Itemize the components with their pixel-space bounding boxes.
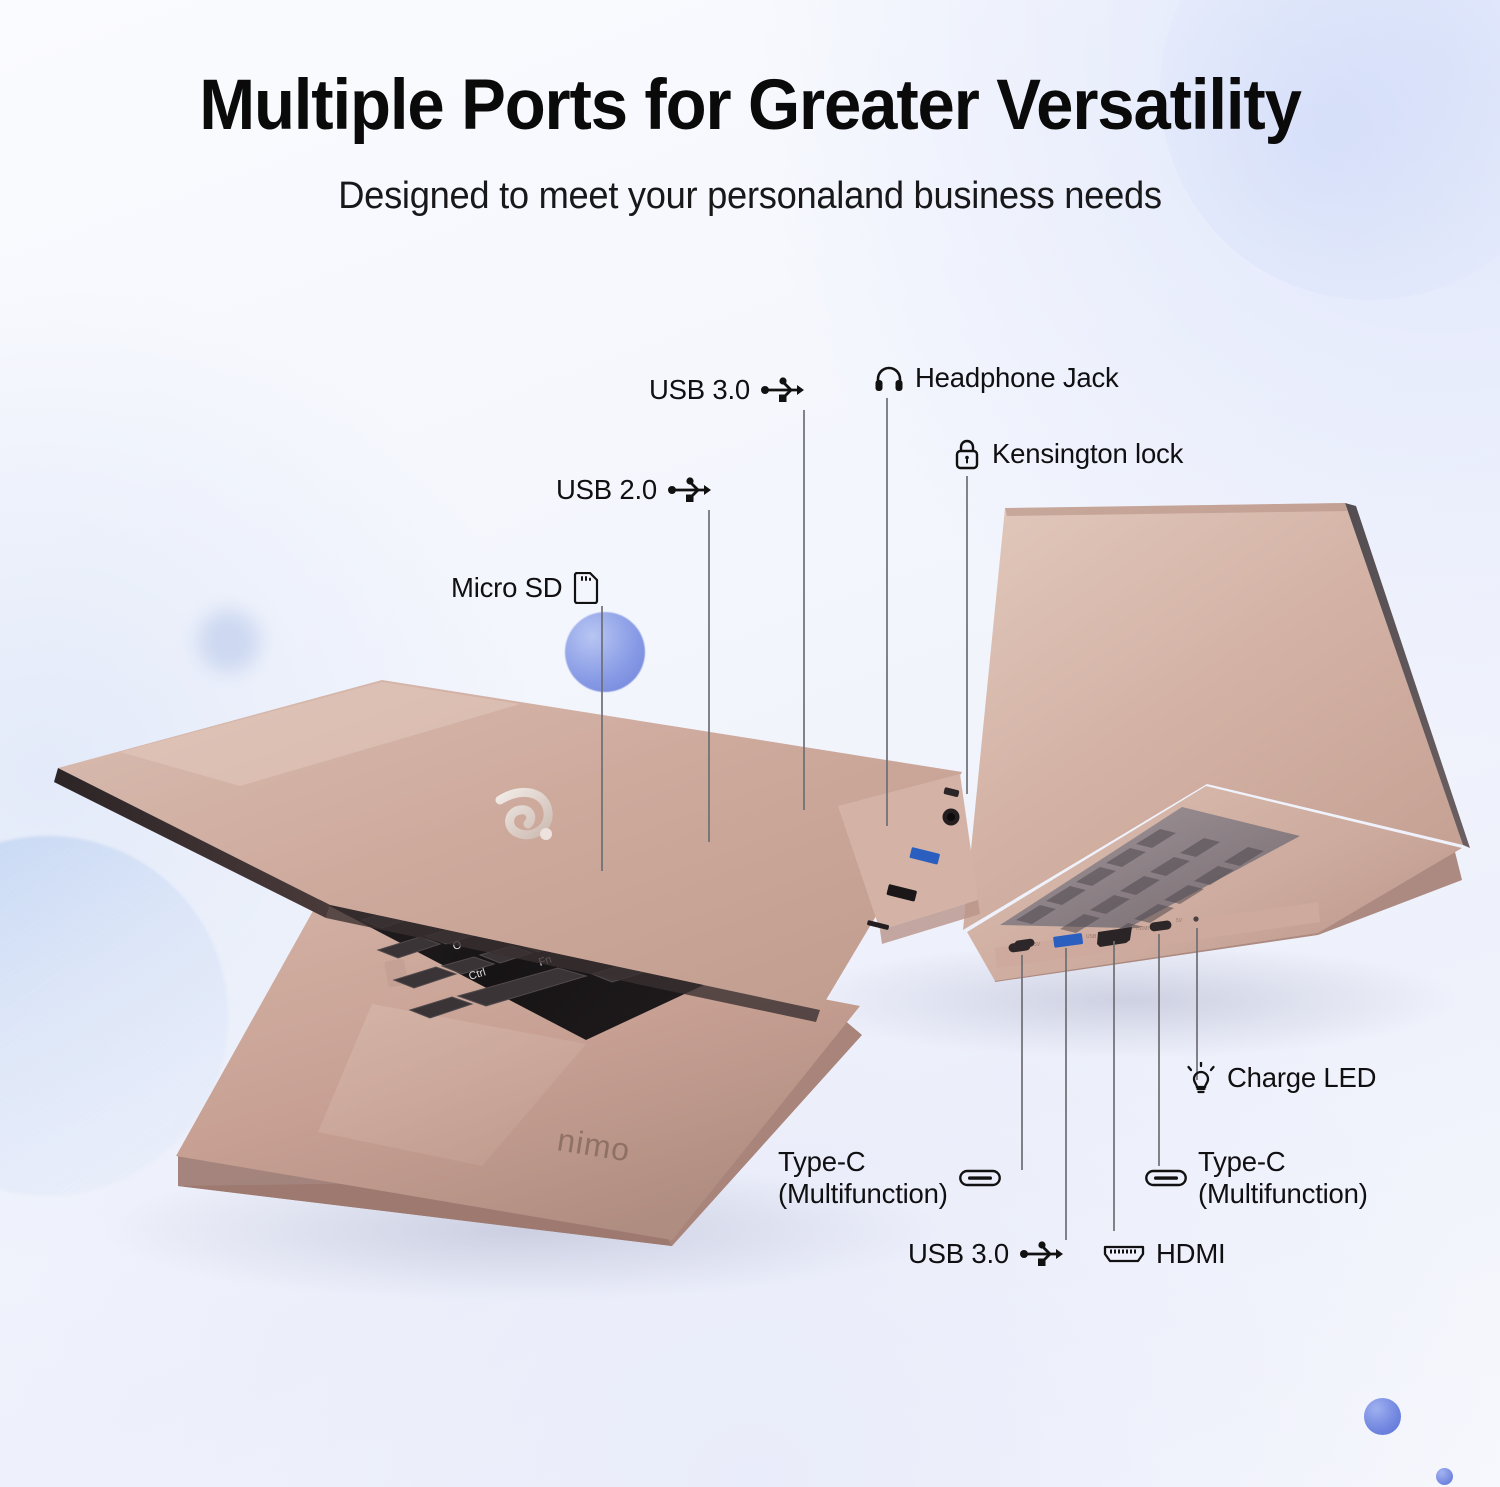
page-subtitle: Designed to meet your personaland busine… bbox=[34, 175, 1467, 218]
callout-label-usb-20: USB 2.0 bbox=[556, 474, 657, 506]
leader-line-type-c-left bbox=[1021, 955, 1023, 1170]
usb-icon bbox=[761, 376, 805, 404]
callout-label-kensington-lock: Kensington lock bbox=[992, 438, 1183, 470]
bulb-icon bbox=[1186, 1062, 1216, 1094]
leader-line-kensington-lock bbox=[966, 476, 968, 794]
callout-usb-30-bottom[interactable]: USB 3.0 bbox=[908, 1238, 1064, 1270]
svg-text:USB: USB bbox=[1086, 934, 1097, 940]
callout-label-hdmi: HDMI bbox=[1156, 1238, 1225, 1270]
leader-line-usb-30-top bbox=[803, 410, 805, 810]
callout-type-c-left[interactable]: Type-C (Multifunction) bbox=[778, 1146, 1001, 1210]
usb-icon bbox=[668, 476, 712, 504]
callout-headphone-jack[interactable]: Headphone Jack bbox=[874, 362, 1119, 394]
leader-line-hdmi bbox=[1113, 941, 1115, 1231]
leader-line-charge-led bbox=[1196, 928, 1198, 1080]
callout-usb-30-top[interactable]: USB 3.0 bbox=[649, 374, 805, 406]
typec-icon bbox=[959, 1167, 1001, 1189]
callout-label-headphone-jack: Headphone Jack bbox=[915, 362, 1119, 394]
page-title: Multiple Ports for Greater Versatility bbox=[41, 68, 1459, 145]
callout-usb-20[interactable]: USB 2.0 bbox=[556, 474, 712, 506]
leader-line-type-c-right bbox=[1158, 934, 1160, 1166]
callout-label-type-c-left: Type-C (Multifunction) bbox=[778, 1146, 948, 1210]
type-c-right-line1: Type-C bbox=[1198, 1146, 1368, 1178]
callout-label-usb-30-top: USB 3.0 bbox=[649, 374, 750, 406]
svg-text:5V: 5V bbox=[1176, 918, 1183, 924]
microsd-icon bbox=[573, 572, 599, 604]
svg-text:HDMI: HDMI bbox=[1136, 926, 1149, 932]
lock-icon bbox=[953, 438, 981, 470]
type-c-right-line2: (Multifunction) bbox=[1198, 1178, 1368, 1210]
callout-label-type-c-right: Type-C (Multifunction) bbox=[1198, 1146, 1368, 1210]
leader-line-usb-30-bottom bbox=[1065, 948, 1067, 1240]
product-feature-graphic: 5V USB HDMI 5V nimo bbox=[0, 0, 1500, 1487]
typec-icon bbox=[1145, 1167, 1187, 1189]
callout-micro-sd[interactable]: Micro SD bbox=[451, 572, 599, 604]
header: Multiple Ports for Greater Versatility D… bbox=[0, 0, 1500, 218]
hdmi-icon bbox=[1103, 1242, 1145, 1266]
callout-type-c-right[interactable]: Type-C (Multifunction) bbox=[1145, 1146, 1368, 1210]
callout-charge-led[interactable]: Charge LED bbox=[1186, 1062, 1376, 1094]
headphone-icon bbox=[874, 364, 904, 392]
type-c-left-line2: (Multifunction) bbox=[778, 1178, 948, 1210]
svg-text:5V: 5V bbox=[1034, 942, 1041, 948]
callout-label-charge-led: Charge LED bbox=[1227, 1062, 1376, 1094]
callout-label-usb-30-bottom: USB 3.0 bbox=[908, 1238, 1009, 1270]
leader-line-headphone-jack bbox=[886, 398, 888, 826]
leader-line-micro-sd bbox=[601, 606, 603, 871]
laptop-illustration: 5V USB HDMI 5V nimo bbox=[0, 0, 1500, 1487]
callout-label-micro-sd: Micro SD bbox=[451, 572, 562, 604]
leader-line-usb-20 bbox=[708, 510, 710, 842]
type-c-left-line1: Type-C bbox=[778, 1146, 948, 1178]
callout-hdmi[interactable]: HDMI bbox=[1103, 1238, 1225, 1270]
callout-kensington-lock[interactable]: Kensington lock bbox=[953, 438, 1183, 470]
usb-icon bbox=[1020, 1240, 1064, 1268]
